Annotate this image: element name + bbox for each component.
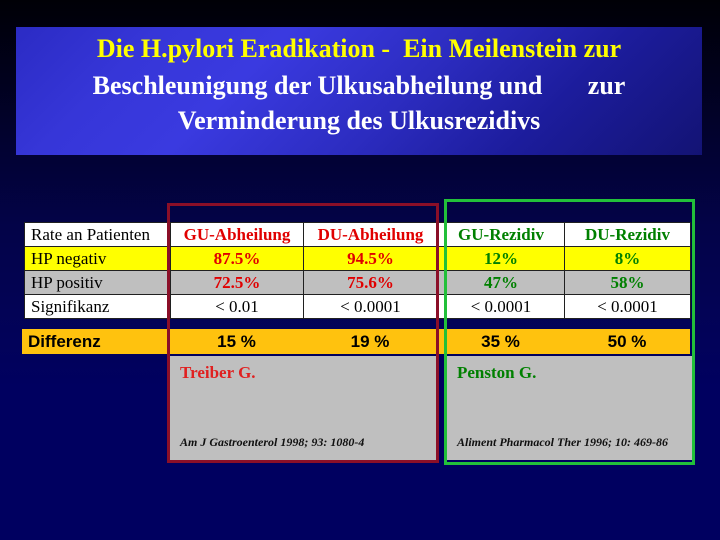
differenz-gu-rezidiv: 35 % [437, 332, 564, 352]
header-gu-abheilung: GU-Abheilung [171, 223, 304, 247]
row-label-signifikanz: Signifikanz [25, 295, 171, 319]
table-row: HP positiv 72.5% 75.6% 47% 58% [25, 271, 691, 295]
table-header-row: Rate an Patienten GU-Abheilung DU-Abheil… [25, 223, 691, 247]
cell-hp-negativ-du-rezidiv: 8% [565, 247, 691, 271]
cell-hp-positiv-gu-rezidiv: 47% [438, 271, 565, 295]
slide-title-block: Die H.pylori Eradikation - Ein Meilenste… [16, 27, 702, 155]
title-line-1: Die H.pylori Eradikation - Ein Meilenste… [16, 34, 702, 65]
citation-box-left: Treiber G. Am J Gastroenterol 1998; 93: … [170, 356, 436, 460]
row-label-hp-negativ: HP negativ [25, 247, 171, 271]
title-line-3: Verminderung des Ulkusrezidivs [16, 106, 702, 137]
header-du-abheilung: DU-Abheilung [304, 223, 438, 247]
differenz-gu-abheilung: 15 % [170, 332, 303, 352]
cell-hp-positiv-du-rezidiv: 58% [565, 271, 691, 295]
citation-reference-treiber: Am J Gastroenterol 1998; 93: 1080-4 [180, 435, 364, 450]
results-table: Rate an Patienten GU-Abheilung DU-Abheil… [24, 222, 691, 319]
differenz-label: Differenz [22, 332, 170, 352]
cell-signifikanz-gu-abheilung: < 0.01 [171, 295, 304, 319]
cell-signifikanz-du-rezidiv: < 0.0001 [565, 295, 691, 319]
cell-hp-negativ-gu-rezidiv: 12% [438, 247, 565, 271]
title-line-2: Beschleunigung der Ulkusabheilung und zu… [16, 71, 702, 102]
cell-hp-negativ-du-abheilung: 94.5% [304, 247, 438, 271]
cell-hp-positiv-gu-abheilung: 72.5% [171, 271, 304, 295]
citation-author-penston: Penston G. [457, 364, 682, 383]
citation-box-right: Penston G. Aliment Pharmacol Ther 1996; … [447, 356, 692, 460]
cell-hp-negativ-gu-abheilung: 87.5% [171, 247, 304, 271]
row-label-hp-positiv: HP positiv [25, 271, 171, 295]
cell-signifikanz-du-abheilung: < 0.0001 [304, 295, 438, 319]
table-row: HP negativ 87.5% 94.5% 12% 8% [25, 247, 691, 271]
citation-reference-penston: Aliment Pharmacol Ther 1996; 10: 469-86 [457, 435, 668, 450]
header-du-rezidiv: DU-Rezidiv [565, 223, 691, 247]
differenz-du-rezidiv: 50 % [564, 332, 690, 352]
header-gu-rezidiv: GU-Rezidiv [438, 223, 565, 247]
differenz-row: Differenz 15 % 19 % 35 % 50 % [22, 329, 690, 354]
cell-hp-positiv-du-abheilung: 75.6% [304, 271, 438, 295]
table-row: Signifikanz < 0.01 < 0.0001 < 0.0001 < 0… [25, 295, 691, 319]
header-rate-label: Rate an Patienten [25, 223, 171, 247]
differenz-du-abheilung: 19 % [303, 332, 437, 352]
citation-author-treiber: Treiber G. [180, 364, 426, 383]
cell-signifikanz-gu-rezidiv: < 0.0001 [438, 295, 565, 319]
